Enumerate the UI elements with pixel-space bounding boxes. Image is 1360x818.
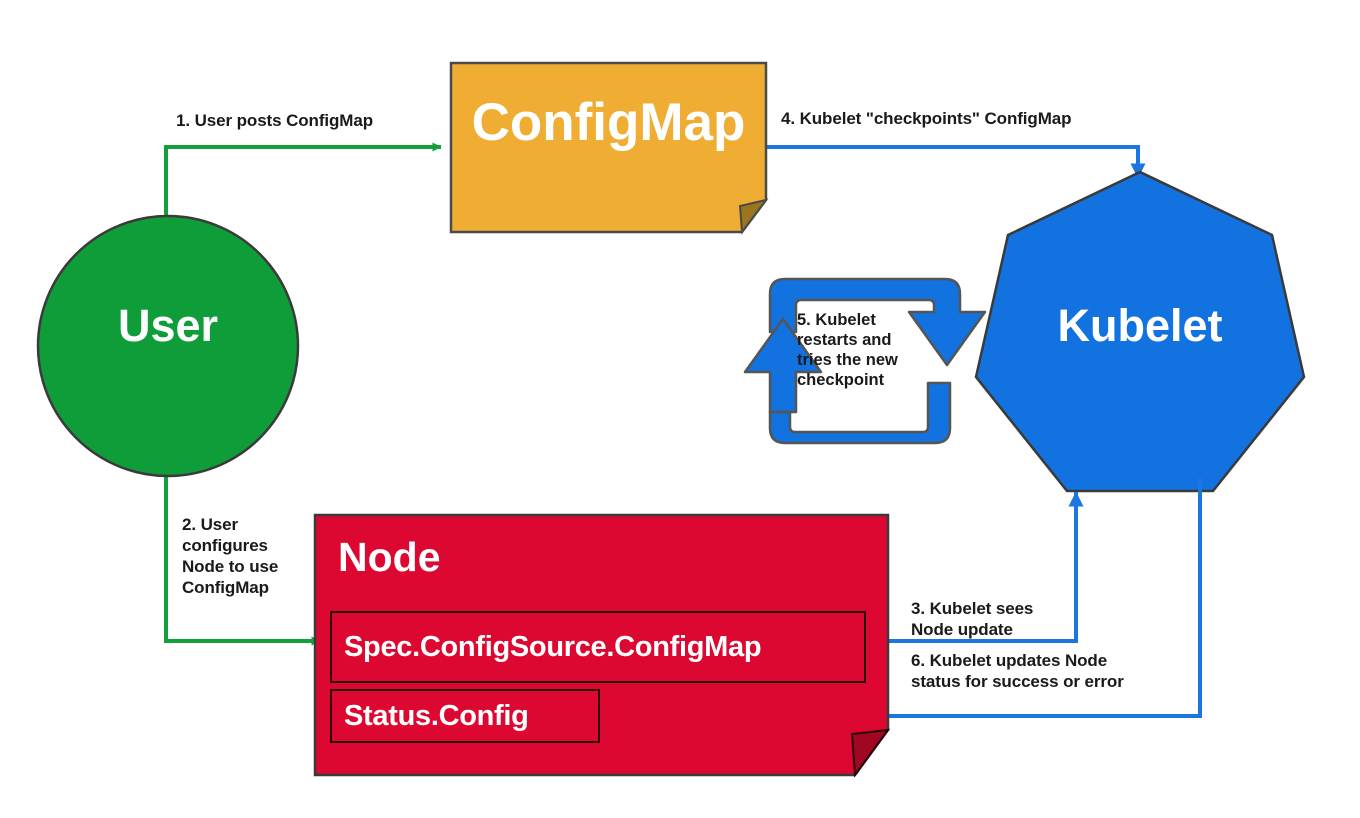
restart-loop-label: 5. Kubelet restarts and tries the new ch… [797, 310, 927, 390]
node-label: Node [338, 534, 441, 581]
edge-1-user-posts-configmap [166, 147, 441, 222]
edge-label-6: 6. Kubelet updates Node status for succe… [911, 650, 1124, 692]
edge-label-4: 4. Kubelet "checkpoints" ConfigMap [781, 108, 1071, 129]
node-field-status-config: Status.Config [330, 689, 600, 743]
kubelet-label: Kubelet [1000, 300, 1280, 352]
user-label: User [38, 300, 298, 352]
node-field-spec-configsource-configmap: Spec.ConfigSource.ConfigMap [330, 611, 866, 683]
diagram-canvas: ConfigMap User Kubelet Node Spec.ConfigS… [0, 0, 1360, 818]
edge-4-kubelet-checkpoints-configmap [766, 147, 1138, 178]
configmap-label: ConfigMap [451, 92, 766, 153]
edge-label-1: 1. User posts ConfigMap [176, 110, 373, 131]
edge-label-3: 3. Kubelet sees Node update [911, 598, 1033, 640]
edge-label-2: 2. User configures Node to use ConfigMap [182, 514, 278, 598]
